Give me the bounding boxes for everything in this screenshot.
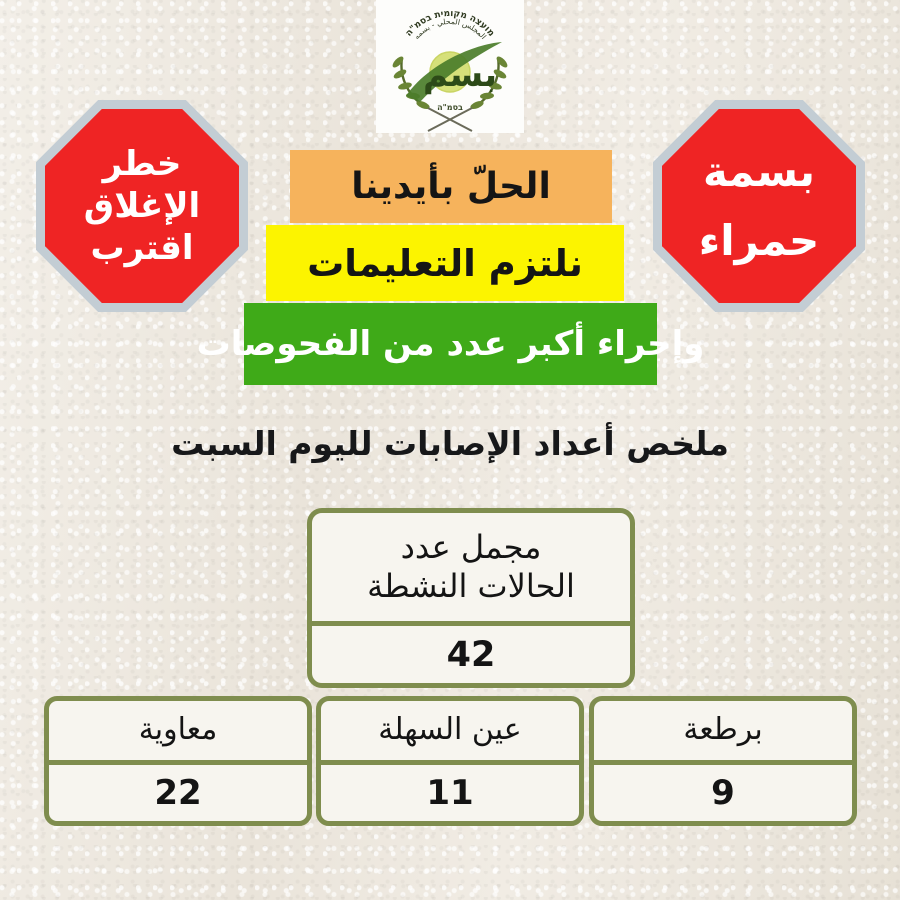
stat-value-muawiya: 22: [49, 765, 307, 821]
stat-label-muawiya: معاوية: [49, 701, 307, 760]
stat-label-ein-as-sahla: عين السهلة: [321, 701, 579, 760]
stat-value-total: 42: [312, 626, 630, 683]
danger-line-1: خطر: [103, 145, 182, 183]
stat-card-total-active-cases: مجمل عدد الحالات النشطة 42: [307, 508, 635, 688]
red-basma-line-2: حمراء: [699, 217, 819, 264]
danger-line-2: الإغلاق: [84, 187, 200, 225]
stat-value-ein-as-sahla: 11: [321, 765, 579, 821]
stat-label-total-line2: الحالات النشطة: [367, 567, 575, 605]
stat-label-total-text: مجمل عدد الحالات النشطة: [367, 528, 575, 606]
octagon-face: خطر الإغلاق اقترب: [45, 109, 239, 303]
red-basma-sign: بسمة حمراء: [653, 100, 865, 312]
closure-danger-sign: خطر الإغلاق اقترب: [36, 100, 248, 312]
page-title: ملخص أعداد الإصابات لليوم السبت: [0, 424, 900, 463]
stat-label-barta-a: برطعة: [594, 701, 852, 760]
council-logo-card: מועצה מקומית בסמ"ה المجلس المحلي - بسمه: [376, 0, 524, 133]
stat-label-total: مجمل عدد الحالات النشطة: [312, 513, 630, 621]
poster-canvas: מועצה מקומית בסמ"ה المجلس المحلي - بسمه: [0, 0, 900, 900]
stat-card-ein-as-sahla: عين السهلة 11: [316, 696, 584, 826]
red-basma-line-1: بسمة: [703, 148, 815, 195]
octagon-face: بسمة حمراء: [662, 109, 856, 303]
stat-card-muawiya: معاوية 22: [44, 696, 312, 826]
danger-line-3: اقترب: [90, 229, 193, 267]
stat-card-barta-a: برطعة 9: [589, 696, 857, 826]
logo-bottom-word: בסמ"ה: [437, 103, 463, 112]
basma-council-logo: מועצה מקומית בסמ"ה المجلس المحلي - بسمه: [376, 0, 524, 133]
stat-label-total-line1: مجمل عدد: [401, 528, 542, 566]
slogan-testing: وإجراء أكبر عدد من الفحوصات: [244, 303, 657, 385]
slogan-solution: الحلّ بأيدينا: [290, 150, 612, 223]
slogan-instructions: نلتزم التعليمات: [266, 225, 624, 301]
logo-center-word: بسم: [423, 55, 497, 95]
stat-value-barta-a: 9: [594, 765, 852, 821]
